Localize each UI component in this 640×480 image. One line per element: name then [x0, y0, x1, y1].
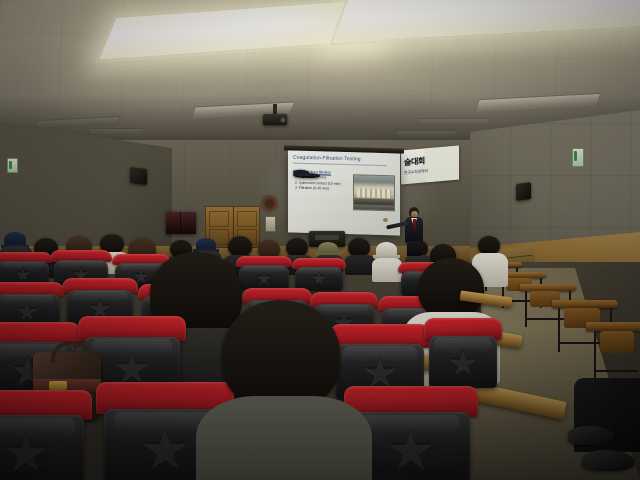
wall-speaker: [130, 167, 147, 185]
wall-banner: 술대회 한국수자원학회: [401, 145, 459, 184]
slide-photo: [353, 174, 395, 211]
auditorium-seat: ★: [0, 390, 92, 480]
presenter: [398, 207, 428, 255]
baseball-cap: [4, 232, 26, 247]
star-emblem: ★: [16, 300, 38, 324]
foreground-head: [222, 300, 340, 408]
bag-clasp: [49, 381, 67, 390]
baseball-cap: [196, 238, 216, 251]
av-equipment-stack: [166, 212, 196, 234]
aisle-seated-person: [556, 378, 640, 480]
star-emblem: ★: [3, 427, 50, 479]
projector-lens-icon: [280, 117, 286, 123]
auditorium-seat: ★: [0, 252, 52, 286]
auditorium-seat: ★: [424, 318, 502, 388]
ceiling-projector: [263, 114, 287, 124]
star-emblem: ★: [256, 270, 271, 287]
auditorium-seat: ★: [292, 258, 346, 291]
baseball-cap: [318, 242, 338, 255]
star-emblem: ★: [15, 266, 30, 283]
lecture-hall-photo: 술대회 한국수자원학회 Coagulation-Filtration Testi…: [0, 0, 640, 480]
tablet-arm-desk: [586, 322, 640, 386]
star-emblem: ★: [140, 421, 190, 477]
dress-shoe: [568, 426, 614, 445]
star-emblem: ★: [312, 271, 326, 287]
wall-speaker: [516, 182, 531, 201]
exit-sign: [7, 158, 18, 173]
wreath-decoration: [262, 196, 277, 211]
projection-screen: Coagulation-Filtration Testing Jar testi…: [288, 150, 400, 235]
presenter-tie: [413, 219, 416, 230]
door-sign: [265, 216, 276, 232]
foreground-torso: [196, 396, 372, 480]
banner-title: 술대회: [404, 155, 425, 168]
star-emblem: ★: [448, 346, 478, 380]
bucket-hat: [376, 242, 397, 257]
star-emblem: ★: [387, 423, 435, 477]
dress-shoe: [582, 450, 634, 471]
auditorium-seat: ★: [236, 256, 292, 290]
presentation-slide: Coagulation-Filtration Testing Jar testi…: [288, 150, 400, 235]
exit-sign: [572, 148, 584, 167]
